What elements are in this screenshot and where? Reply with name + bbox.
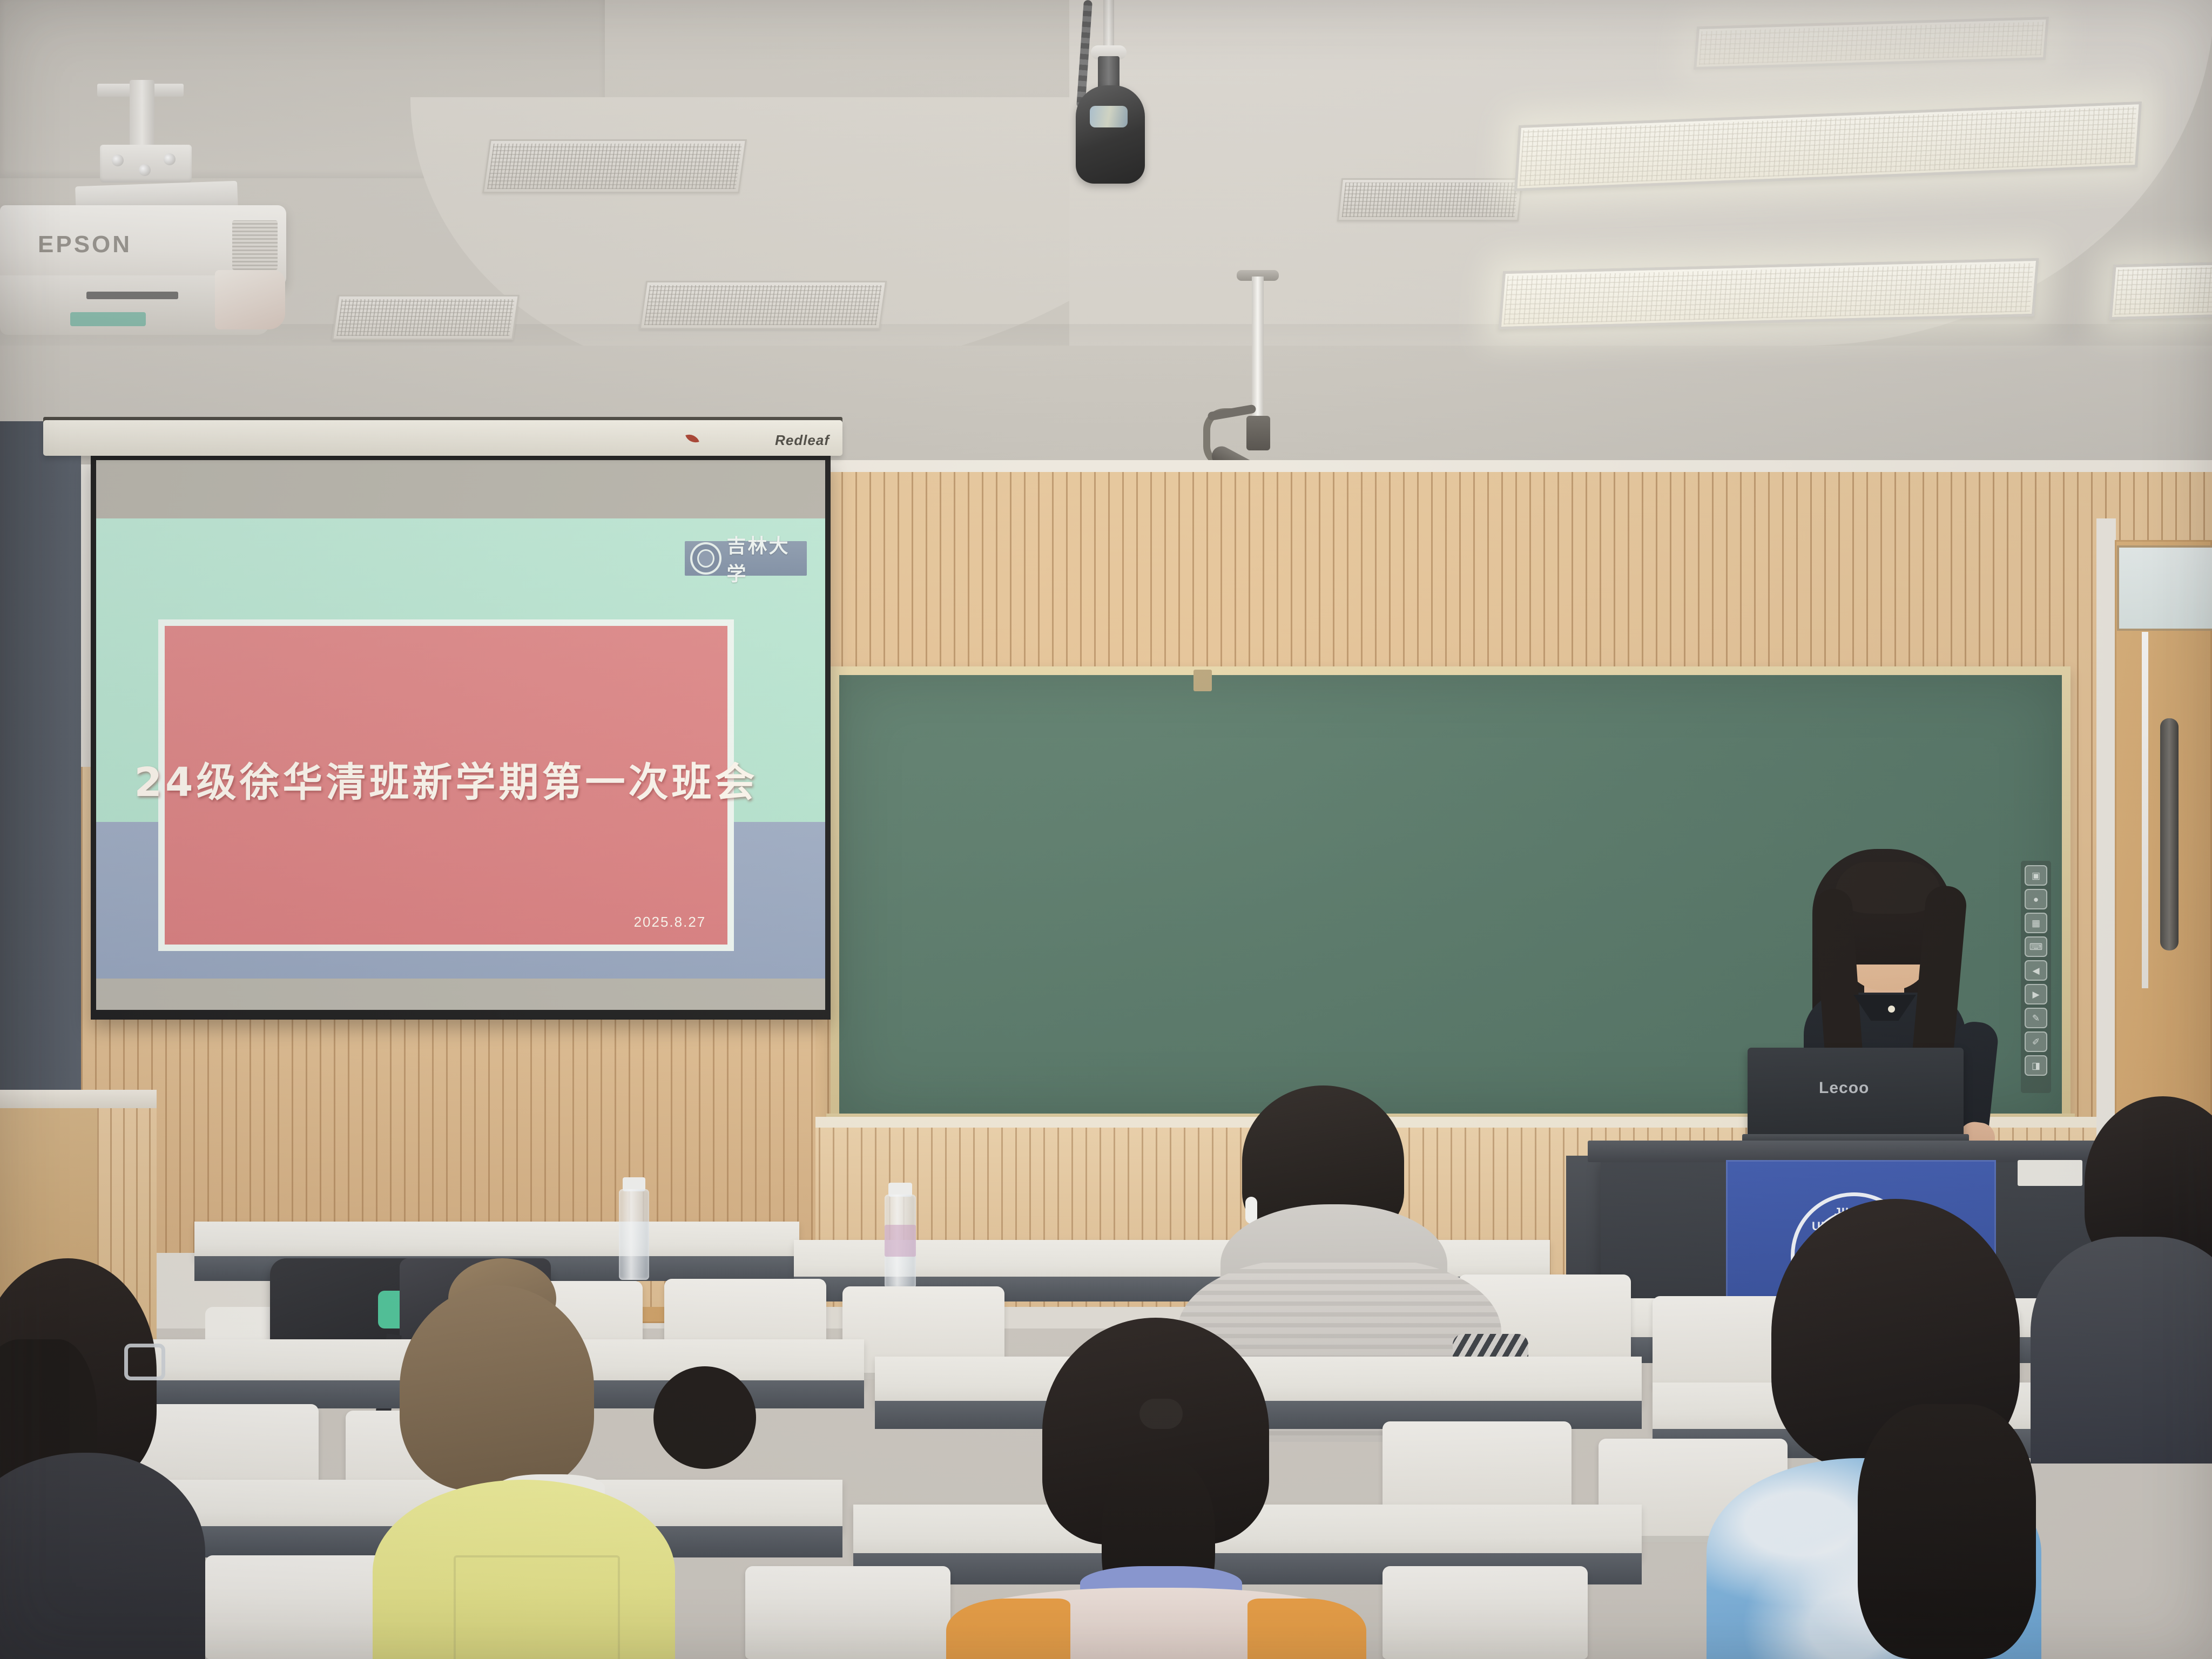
- chair[interactable]: [1382, 1566, 1588, 1659]
- slide-date: 2025.8.27: [634, 914, 706, 930]
- bracket-screw-icon: [112, 154, 124, 166]
- ceiling-camera-icon: [1076, 85, 1145, 184]
- left-dark-column: [0, 421, 81, 1156]
- ceiling-vent: [1337, 178, 1523, 221]
- projector-mount-pole: [130, 80, 154, 150]
- student-head-background: [653, 1366, 756, 1469]
- bottle-body: [619, 1189, 649, 1280]
- presenter-necklace: [1888, 1006, 1895, 1013]
- desk-row: [194, 1222, 799, 1259]
- grid-icon[interactable]: ▦: [2025, 913, 2047, 933]
- camera-lens-reflection: [1090, 106, 1128, 127]
- bracket-screw-icon: [164, 153, 176, 165]
- student-sleeve: [1247, 1599, 1366, 1659]
- ceiling-vent: [482, 139, 747, 193]
- lectern-worktop: [0, 1090, 157, 1108]
- student-ponytail: [1858, 1404, 2036, 1659]
- previous-icon[interactable]: ◀: [2025, 960, 2047, 981]
- ceiling-vent: [332, 295, 520, 340]
- lecture-hall-photo: EPSON ▣ ● ▦ ⌨ ◀ ▶ ✎ ✐ ◨: [0, 0, 2212, 1659]
- camera-stem: [1103, 0, 1114, 52]
- slide-title: 24级徐华清班新学期第一次班会: [134, 750, 758, 808]
- projector-slot: [86, 292, 178, 299]
- water-bottle[interactable]: [619, 1177, 649, 1280]
- eraser-icon[interactable]: ◨: [2025, 1055, 2047, 1076]
- screen-brand-label: Redleaf: [775, 432, 829, 449]
- projector-ir-receiver: [70, 312, 146, 326]
- keyboard-icon[interactable]: ⌨: [2025, 936, 2047, 957]
- podium-paper: [2018, 1160, 2082, 1186]
- door-transom-window: [2117, 545, 2212, 631]
- projector-lens-housing: [215, 270, 285, 329]
- camera-joint: [1246, 416, 1270, 450]
- screen-capture-icon[interactable]: ▣: [2025, 865, 2047, 886]
- podium-top-surface: [1588, 1141, 2128, 1162]
- wall-crown-trim: [799, 460, 2212, 472]
- ceiling-vent: [639, 281, 887, 329]
- slide-title-card-inner: 24级徐华清班新学期第一次班会 2025.8.27: [165, 626, 728, 944]
- water-bottle[interactable]: [885, 1183, 916, 1289]
- projector-brand-label: EPSON: [38, 231, 132, 258]
- bottle-label: [885, 1225, 916, 1257]
- next-icon[interactable]: ▶: [2025, 984, 2047, 1004]
- screen-housing: [43, 420, 842, 456]
- student-dark-shirt: [2031, 1237, 2212, 1464]
- university-logo-text: 吉林大学: [727, 530, 807, 586]
- laptop-brand-label: Lecoo: [1819, 1079, 1869, 1097]
- pen-icon[interactable]: ✎: [2025, 1008, 2047, 1028]
- door-handle-icon[interactable]: [2160, 718, 2179, 950]
- shirt-print: [454, 1555, 620, 1659]
- projector-bracket: [100, 145, 192, 183]
- hair-tie-icon: [1139, 1399, 1183, 1429]
- ceiling-light-panel: [2109, 260, 2212, 320]
- university-logo-badge: 吉林大学: [685, 541, 807, 576]
- bracket-screw-icon: [139, 164, 151, 176]
- student-sleeve: [946, 1599, 1070, 1659]
- slide-content: 吉林大学 24级徐华清班新学期第一次班会 2025.8.27: [96, 518, 825, 979]
- blackboard-clip: [1193, 670, 1212, 691]
- door-edge-light: [2142, 632, 2148, 988]
- whiteboard-control-strip[interactable]: ▣ ● ▦ ⌨ ◀ ▶ ✎ ✐ ◨: [2021, 861, 2051, 1093]
- highlighter-icon[interactable]: ✐: [2025, 1031, 2047, 1052]
- projector-vent-grille: [232, 220, 278, 270]
- chair[interactable]: [1382, 1421, 1572, 1519]
- record-dot-icon[interactable]: ●: [2025, 889, 2047, 909]
- student-hair: [400, 1285, 594, 1491]
- camera-drop-pole: [1252, 276, 1264, 439]
- slide-title-card: 24级徐华清班新学期第一次班会 2025.8.27: [158, 619, 734, 950]
- university-seal-icon: [690, 542, 721, 575]
- glasses-icon: [124, 1344, 165, 1380]
- chair[interactable]: [745, 1566, 950, 1659]
